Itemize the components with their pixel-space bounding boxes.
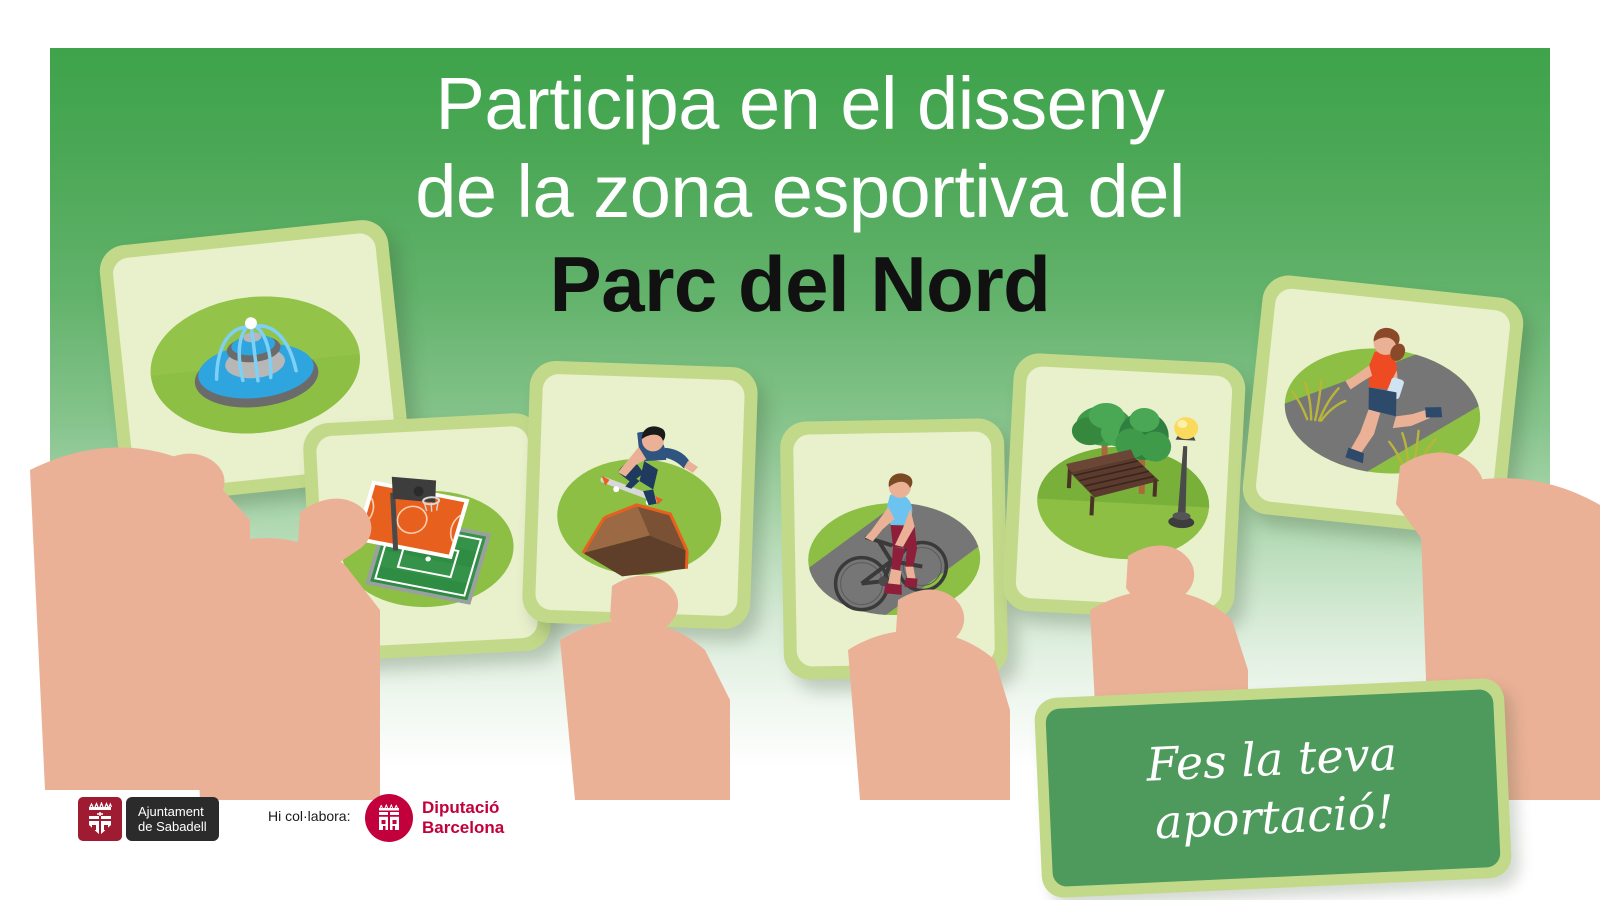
diputacio-line-1: Diputació — [422, 798, 504, 818]
ajuntament-de-sabadell-logo[interactable]: Ajuntament de Sabadell — [78, 797, 219, 841]
ajuntament-line-1: Ajuntament — [138, 804, 207, 819]
footer-logos: Ajuntament de Sabadell Hi col·labora: Di… — [0, 780, 1600, 870]
poster-canvas: Participa en el disseny de la zona espor… — [0, 0, 1600, 900]
diputacio-name-text: Diputació Barcelona — [422, 798, 504, 838]
ajuntament-name-box: Ajuntament de Sabadell — [126, 797, 219, 841]
diputacio-crest-icon — [365, 794, 413, 842]
diputacio-barcelona-logo[interactable]: Diputació Barcelona — [365, 794, 504, 842]
sabadell-shield-icon — [78, 797, 122, 841]
diputacio-line-2: Barcelona — [422, 818, 504, 838]
collaborates-label: Hi col·labora: — [268, 808, 350, 824]
ajuntament-line-2: de Sabadell — [138, 819, 207, 834]
